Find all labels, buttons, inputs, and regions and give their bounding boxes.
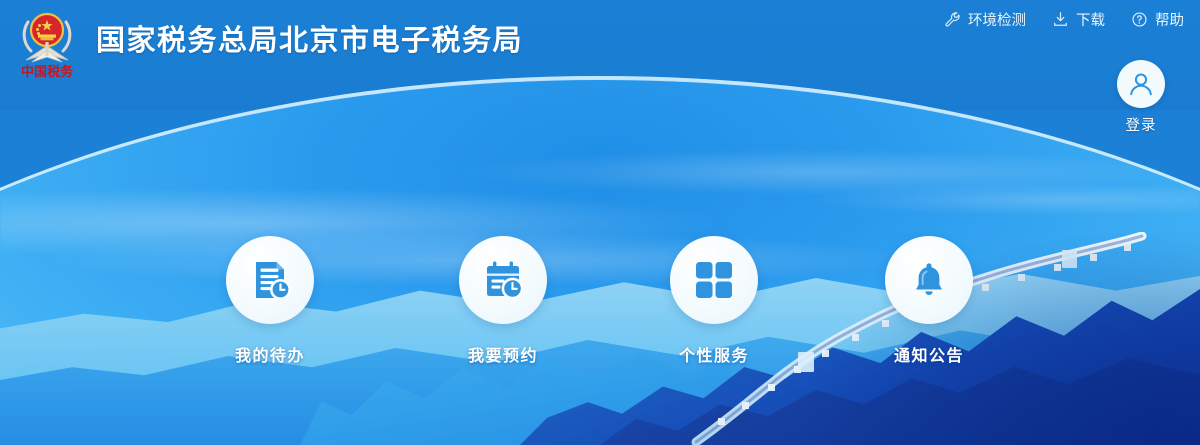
download-button[interactable]: 下载 xyxy=(1052,9,1105,30)
shortcut-appointment[interactable]: 我要预约 xyxy=(443,236,563,366)
help-label: 帮助 xyxy=(1155,9,1184,30)
user-avatar-icon xyxy=(1117,60,1165,108)
brand-block: 中国税务 国家税务总局北京市电子税务局 xyxy=(14,4,523,82)
bell-icon xyxy=(885,236,973,324)
calendar-clock-icon xyxy=(459,236,547,324)
shortcut-my-todo[interactable]: 我的待办 xyxy=(210,236,330,366)
header-toolbar: 环境检测 下载 帮 xyxy=(944,9,1184,30)
env-check-button[interactable]: 环境检测 xyxy=(944,9,1026,30)
help-button[interactable]: 帮助 xyxy=(1131,9,1184,30)
download-label: 下载 xyxy=(1076,9,1105,30)
shortcut-my-todo-label: 我的待办 xyxy=(235,342,305,366)
env-check-label: 环境检测 xyxy=(968,9,1026,30)
china-tax-emblem-icon: 中国税务 xyxy=(14,4,80,82)
shortcut-personal-service-label: 个性服务 xyxy=(679,342,749,366)
page-title: 国家税务总局北京市电子税务局 xyxy=(96,27,523,60)
site-header: 中国税务 国家税务总局北京市电子税务局 环境检测 xyxy=(0,0,1200,86)
document-clock-icon xyxy=(226,236,314,324)
shortcut-personal-service[interactable]: 个性服务 xyxy=(654,236,774,366)
help-circle-icon xyxy=(1131,11,1148,28)
shortcut-announcement-label: 通知公告 xyxy=(894,342,964,366)
wrench-icon xyxy=(944,11,961,28)
login-label: 登录 xyxy=(1126,114,1157,135)
emblem-text: 中国税务 xyxy=(21,64,74,79)
shortcut-announcement[interactable]: 通知公告 xyxy=(869,236,989,366)
login-button[interactable]: 登录 xyxy=(1098,60,1184,135)
shortcut-appointment-label: 我要预约 xyxy=(468,342,538,366)
page-root: 中国税务 国家税务总局北京市电子税务局 环境检测 xyxy=(0,0,1200,445)
grid-four-icon xyxy=(670,236,758,324)
download-icon xyxy=(1052,11,1069,28)
shortcut-row: 我的待办 我要预约 xyxy=(0,236,1200,396)
